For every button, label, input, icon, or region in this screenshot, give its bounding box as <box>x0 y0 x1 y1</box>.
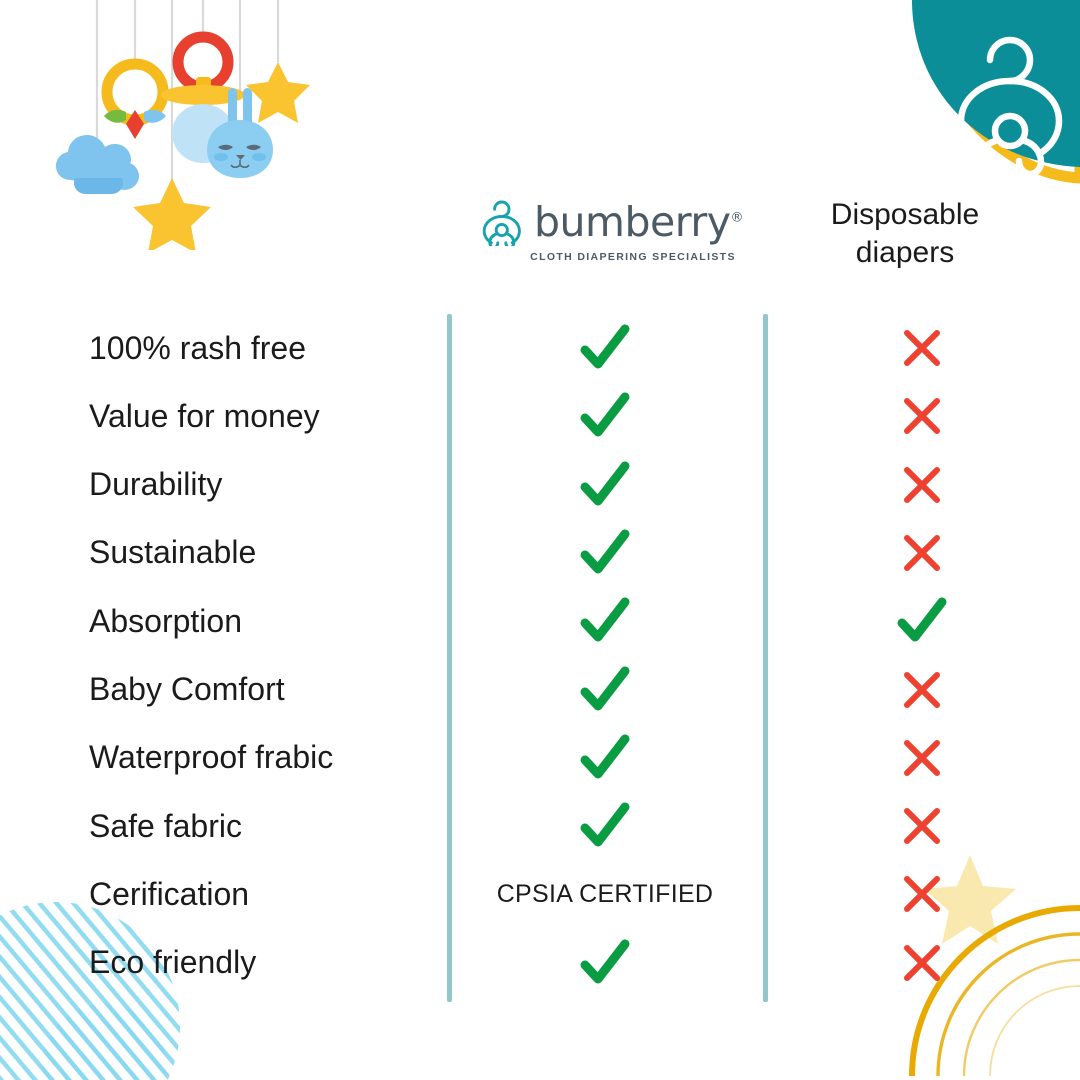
check-icon <box>895 594 949 648</box>
table-row: CerificationCPSIA CERTIFIED <box>0 862 1080 926</box>
feature-label: Eco friendly <box>89 931 429 995</box>
feature-label: 100% rash free <box>89 316 429 380</box>
disposable-label-line1: Disposable <box>790 196 1020 234</box>
feature-label: Absorption <box>89 589 429 653</box>
feature-label: Baby Comfort <box>89 658 429 722</box>
table-row: Baby Comfort <box>0 658 1080 722</box>
comparison-infographic: bumberry® CLOTH DIAPERING SPECIALISTS Di… <box>0 0 1080 1080</box>
comparison-table: bumberry® CLOTH DIAPERING SPECIALISTS Di… <box>0 0 1080 1080</box>
cell-brand <box>447 453 763 517</box>
certification-text: CPSIA CERTIFIED <box>497 880 714 909</box>
cell-brand <box>447 794 763 858</box>
cell-brand <box>447 658 763 722</box>
cell-disposable <box>763 931 1080 995</box>
check-icon <box>578 663 632 717</box>
table-row: Eco friendly <box>0 931 1080 995</box>
cross-icon <box>901 327 943 369</box>
cell-disposable <box>763 658 1080 722</box>
cell-disposable <box>763 453 1080 517</box>
bumberry-mother-baby-icon <box>477 198 525 246</box>
check-icon <box>578 458 632 512</box>
cell-disposable <box>763 521 1080 585</box>
cell-brand <box>447 726 763 790</box>
table-row: Absorption <box>0 589 1080 653</box>
feature-label: Cerification <box>89 862 429 926</box>
feature-label: Safe fabric <box>89 794 429 858</box>
cell-brand <box>447 384 763 448</box>
check-icon <box>578 799 632 853</box>
cross-icon <box>901 464 943 506</box>
column-header-disposable: Disposable diapers <box>790 196 1020 273</box>
cell-brand <box>447 931 763 995</box>
cell-disposable <box>763 589 1080 653</box>
feature-label: Waterproof frabic <box>89 726 429 790</box>
cross-icon <box>901 737 943 779</box>
brand-wordmark-text: bumberry <box>534 198 730 246</box>
cell-disposable <box>763 794 1080 858</box>
column-header-brand: bumberry® CLOTH DIAPERING SPECIALISTS <box>470 198 750 293</box>
cell-brand: CPSIA CERTIFIED <box>447 862 763 926</box>
table-row: Durability <box>0 453 1080 517</box>
cross-icon <box>901 532 943 574</box>
table-row: 100% rash free <box>0 316 1080 380</box>
cell-brand <box>447 589 763 653</box>
table-row: Value for money <box>0 384 1080 448</box>
cross-icon <box>901 669 943 711</box>
registered-trademark-icon: ® <box>730 210 743 225</box>
check-icon <box>578 321 632 375</box>
cell-disposable <box>763 316 1080 380</box>
brand-tagline: CLOTH DIAPERING SPECIALISTS <box>516 251 750 263</box>
check-icon <box>578 936 632 990</box>
feature-label: Value for money <box>89 384 429 448</box>
check-icon <box>578 389 632 443</box>
cell-brand <box>447 316 763 380</box>
cross-icon <box>901 942 943 984</box>
disposable-label-line2: diapers <box>790 234 1020 272</box>
cell-brand <box>447 521 763 585</box>
table-row: Safe fabric <box>0 794 1080 858</box>
feature-label: Sustainable <box>89 521 429 585</box>
table-row: Sustainable <box>0 521 1080 585</box>
check-icon <box>578 731 632 785</box>
check-icon <box>578 526 632 580</box>
cross-icon <box>901 873 943 915</box>
cell-disposable <box>763 384 1080 448</box>
check-icon <box>578 594 632 648</box>
cross-icon <box>901 805 943 847</box>
table-row: Waterproof frabic <box>0 726 1080 790</box>
cell-disposable <box>763 862 1080 926</box>
feature-label: Durability <box>89 453 429 517</box>
cell-disposable <box>763 726 1080 790</box>
cross-icon <box>901 395 943 437</box>
